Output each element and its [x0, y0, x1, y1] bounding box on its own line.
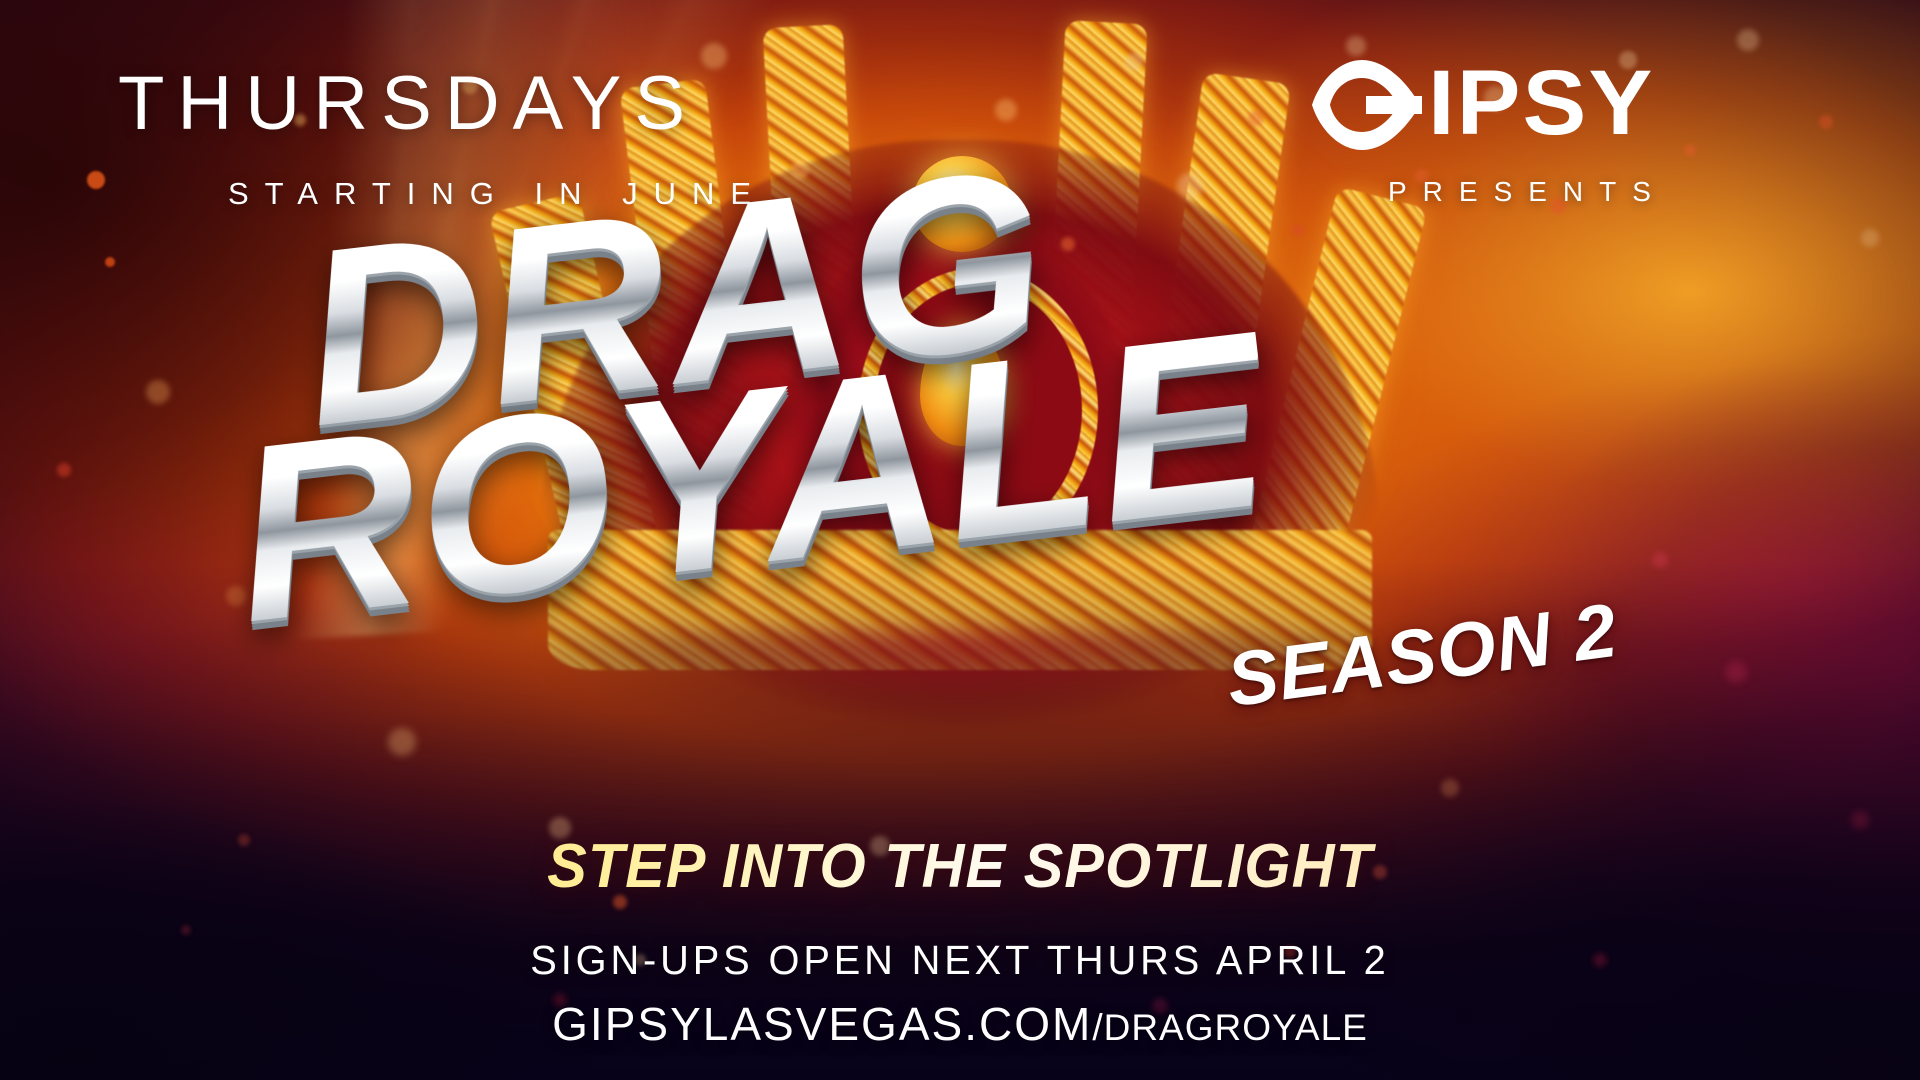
footer-block: SIGN-UPS OPEN NEXT THURS APRIL 2 GIPSYLA…	[0, 940, 1920, 1047]
url-path: /DRAGROYALE	[1092, 1007, 1368, 1048]
season-badge: SEASON 2	[1222, 587, 1622, 724]
thursdays-heading: THURSDAYS	[118, 66, 698, 142]
flyer-canvas: THURSDAYS STARTING IN JUNE IPSY PRESENTS…	[0, 0, 1920, 1080]
gipsy-logo: IPSY	[1310, 58, 1646, 152]
gipsy-g-eye-icon	[1310, 58, 1422, 152]
presents-label: PRESENTS	[1388, 178, 1667, 206]
url-domain: GIPSYLASVEGAS.COM	[552, 998, 1092, 1050]
main-title-block: DRAG DRAG ROYALE ROYALE SEASON 2	[200, 228, 1700, 828]
gipsy-logo-text: IPSY	[1428, 58, 1654, 148]
signups-announcement: SIGN-UPS OPEN NEXT THURS APRIL 2	[29, 940, 1891, 981]
signup-url[interactable]: GIPSYLASVEGAS.COM/DRAGROYALE	[0, 1001, 1920, 1047]
tagline: STEP INTO THE SPOTLIGHT	[38, 836, 1881, 898]
